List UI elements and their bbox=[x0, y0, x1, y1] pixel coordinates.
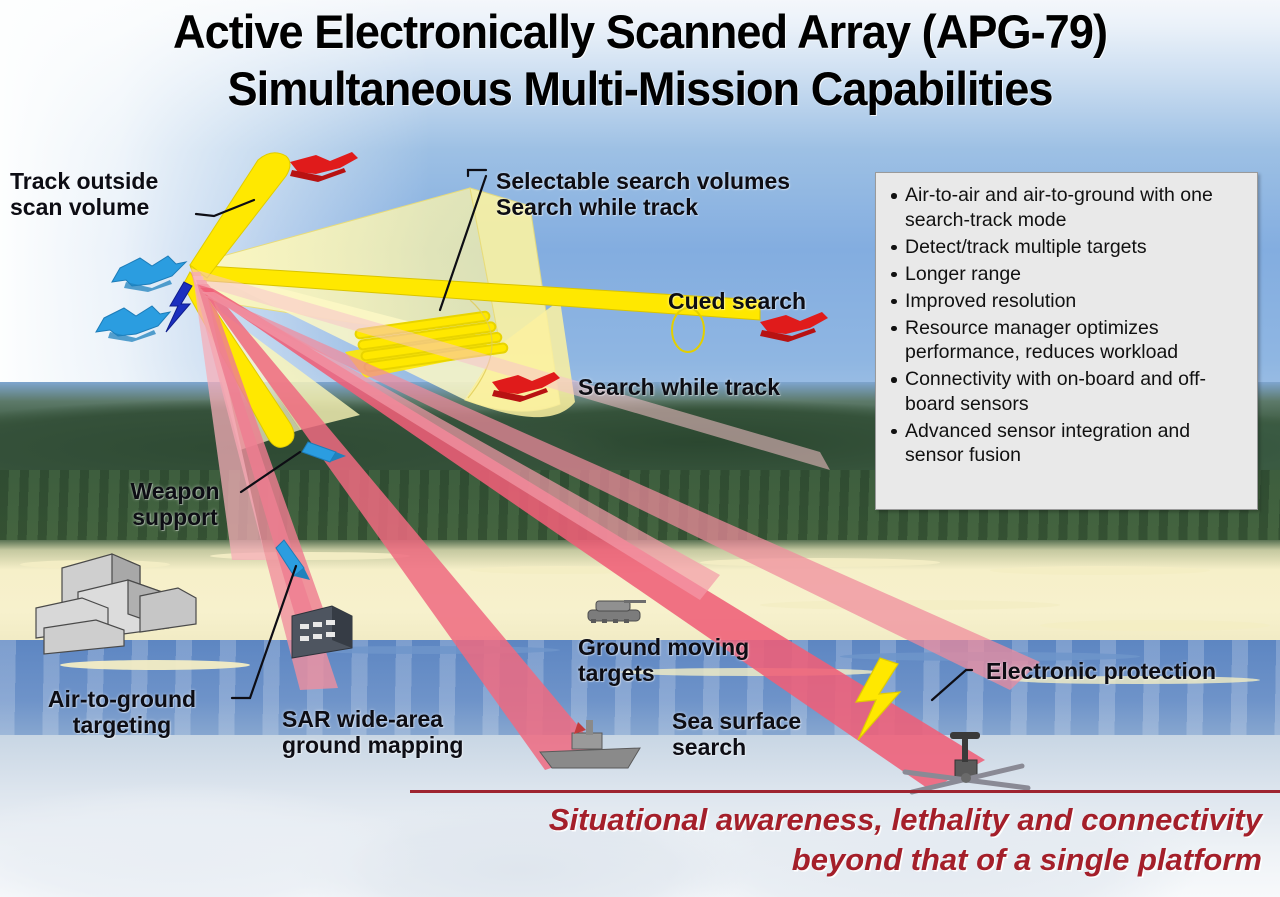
sand-texture bbox=[760, 600, 1060, 610]
capabilities-panel: Air-to-air and air-to-ground with one se… bbox=[875, 172, 1258, 510]
list-item: Resource manager optimizes performance, … bbox=[886, 316, 1245, 365]
list-item: Advanced sensor integration and sensor f… bbox=[886, 419, 1245, 468]
callout-weapon-support: Weapon support bbox=[100, 478, 250, 530]
list-item: Air-to-air and air-to-ground with one se… bbox=[886, 183, 1245, 232]
sand-texture bbox=[210, 552, 410, 560]
list-item: Improved resolution bbox=[886, 289, 1245, 314]
sand-texture bbox=[470, 566, 650, 574]
capabilities-list: Air-to-air and air-to-ground with one se… bbox=[886, 183, 1245, 468]
callout-ground-moving-targets: Ground moving targets bbox=[578, 634, 749, 686]
callout-sar-ground-mapping: SAR wide-area ground mapping bbox=[282, 706, 463, 758]
callout-sea-surface-search: Sea surface search bbox=[672, 708, 801, 760]
sand-texture bbox=[700, 558, 940, 567]
tagline-divider bbox=[410, 790, 1280, 793]
tagline-line-1: Situational awareness, lethality and con… bbox=[362, 800, 1262, 840]
callout-air-to-ground-targeting: Air-to-ground targeting bbox=[22, 686, 222, 738]
sand-texture bbox=[60, 660, 250, 670]
callout-selectable-search-volumes: Selectable search volumes Search while t… bbox=[496, 168, 790, 220]
tagline: Situational awareness, lethality and con… bbox=[362, 800, 1262, 880]
list-item: Connectivity with on-board and off-board… bbox=[886, 367, 1245, 416]
list-item: Detect/track multiple targets bbox=[886, 235, 1245, 260]
callout-search-while-track: Search while track bbox=[578, 374, 780, 400]
sand-texture bbox=[990, 566, 1210, 575]
water-texture bbox=[300, 646, 560, 654]
callout-electronic-protection: Electronic protection bbox=[986, 658, 1216, 684]
sand-texture bbox=[1040, 620, 1270, 631]
callout-cued-search: Cued search bbox=[668, 288, 806, 314]
callout-track-outside-scan-volume: Track outside scan volume bbox=[10, 168, 158, 220]
sand-texture bbox=[20, 560, 170, 569]
tagline-line-2: beyond that of a single platform bbox=[362, 840, 1262, 880]
diagram-canvas: Active Electronically Scanned Array (APG… bbox=[0, 0, 1280, 897]
list-item: Longer range bbox=[886, 262, 1245, 287]
